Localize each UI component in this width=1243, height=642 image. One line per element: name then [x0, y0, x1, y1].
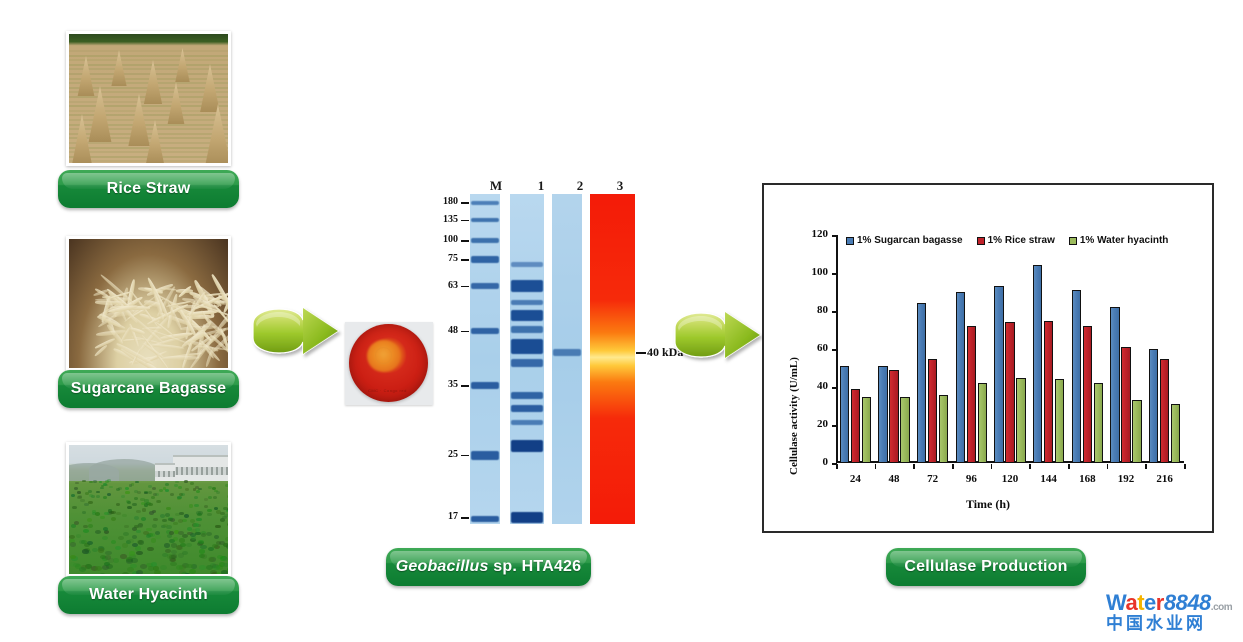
stubble-row: [66, 68, 231, 70]
hyacinth-leaf: [83, 529, 88, 533]
bar-192h----rice-straw: [1121, 347, 1131, 463]
hyacinth-leaf: [136, 510, 141, 513]
hyacinth-leaf: [79, 567, 86, 572]
chart-x-tick-mark-48: [875, 464, 877, 469]
hyacinth-leaf: [215, 525, 220, 529]
hyacinth-leaf: [118, 536, 124, 540]
stubble-row: [66, 55, 231, 57]
hyacinth-leaf: [204, 505, 209, 508]
hyacinth-leaf: [75, 482, 79, 485]
chart-x-tick-48: 48: [874, 473, 914, 485]
bar-96h----sugarcan-bagasse: [956, 292, 966, 463]
hyacinth-leaf: [227, 495, 231, 498]
water-hyacinth-image: [69, 445, 228, 574]
hyacinth-leaf: [102, 565, 109, 570]
ladder-label-180: 180: [432, 196, 458, 207]
chart-x-tick-120: 120: [990, 473, 1030, 485]
bar-168h----sugarcan-bagasse: [1072, 290, 1082, 463]
congo-red-agar-plate: CMC · Congo red: [349, 324, 428, 402]
hyacinth-leaf: [140, 498, 144, 501]
hyacinth-leaf: [88, 501, 92, 504]
chart-x-tick-24: 24: [835, 473, 875, 485]
ladder-label-63: 63: [432, 280, 458, 291]
hyacinth-leaf: [164, 543, 170, 547]
bagasse-fiber: [151, 344, 184, 351]
ladder-tick-180: [461, 202, 469, 204]
bar-24h----water-hyacinth: [862, 397, 872, 464]
hyacinth-leaf: [122, 543, 128, 547]
watermark-letter-2: t: [1137, 590, 1144, 615]
hyacinth-leaf: [146, 534, 152, 538]
hyacinth-leaf: [225, 484, 229, 487]
hyacinth-leaf: [167, 554, 173, 559]
label-organism: Geobacillus sp. HTA426: [386, 548, 591, 586]
organism-genus: Geobacillus: [396, 558, 489, 575]
hyacinth-leaf: [163, 524, 168, 528]
chart-y-tick-mark-20: [832, 425, 837, 427]
bar-48h----water-hyacinth: [900, 397, 910, 464]
gel-lane-marker: [470, 194, 500, 524]
chart-y-tick-mark-40: [832, 387, 837, 389]
hyacinth-leaf: [214, 535, 220, 539]
stubble-row: [66, 114, 231, 116]
hyacinth-leaf: [186, 564, 193, 569]
chart-y-tick-80: 80: [798, 304, 828, 316]
bar-144h----rice-straw: [1044, 321, 1054, 464]
hyacinth-leaf: [228, 513, 231, 516]
hyacinth-leaf: [152, 524, 157, 528]
hyacinth-leaf: [96, 495, 100, 498]
hyacinth-leaf: [152, 487, 156, 490]
hyacinth-leaf: [96, 491, 100, 494]
chart-x-tick-168: 168: [1067, 473, 1107, 485]
stubble-row: [66, 128, 231, 130]
hyacinth-leaf: [156, 500, 160, 503]
hyacinth-leaf: [104, 512, 109, 515]
hyacinth-leaf: [179, 512, 184, 515]
hyacinth-leaf: [208, 496, 212, 499]
chart-plot-area: [836, 235, 1184, 463]
hyacinth-leaf: [151, 496, 155, 499]
hyacinth-leaf: [128, 539, 134, 543]
chart-x-tick-mark-96: [952, 464, 954, 469]
hyacinth-leaf: [225, 537, 231, 541]
hyacinth-leaf: [193, 523, 198, 527]
hyacinth-leaf: [141, 517, 146, 521]
hyacinth-leaf: [136, 530, 141, 534]
hyacinth-leaf: [180, 543, 186, 547]
bagasse-fiber: [95, 329, 126, 336]
hyacinth-leaf: [127, 506, 132, 509]
bar-48h----rice-straw: [889, 370, 899, 463]
label-rice-straw: Rice Straw: [58, 170, 239, 208]
hyacinth-leaf: [134, 516, 139, 520]
bagasse-fiber: [123, 339, 141, 342]
chart-y-tick-20: 20: [798, 418, 828, 430]
hyacinth-leaf: [160, 565, 167, 570]
hyacinth-leaf: [184, 514, 189, 517]
hyacinth-leaf: [178, 486, 182, 489]
hyacinth-leaf: [154, 570, 161, 575]
hyacinth-leaf: [116, 503, 121, 506]
hyacinth-leaf: [176, 565, 183, 570]
chart-x-tick-mark-24: [836, 464, 838, 469]
gel-lane-2-purified-enzyme: [552, 194, 582, 524]
hyacinth-leaf: [206, 532, 212, 536]
chart-x-tick-72: 72: [913, 473, 953, 485]
hyacinth-leaf: [142, 508, 147, 511]
ladder-label-75: 75: [432, 253, 458, 264]
hyacinth-leaf: [116, 512, 121, 515]
hyacinth-leaf: [223, 563, 230, 568]
ladder-tick-63: [461, 286, 469, 288]
ladder-label-48: 48: [432, 325, 458, 336]
watermark-tld: .com: [1211, 602, 1232, 613]
hyacinth-leaf: [216, 491, 220, 494]
hyacinth-leaf: [147, 547, 153, 551]
hyacinth-leaf: [177, 496, 181, 499]
hyacinth-leaf: [228, 480, 231, 483]
hyacinth-leaf: [170, 493, 174, 496]
hyacinth-leaf: [71, 494, 75, 497]
hyacinth-leaf: [89, 481, 93, 484]
ladder-label-17: 17: [432, 511, 458, 522]
photo-sugarcane-bagasse: [66, 236, 231, 371]
hyacinth-leaf: [189, 504, 194, 507]
hyacinth-leaf: [196, 490, 200, 493]
bar-216h----sugarcan-bagasse: [1149, 349, 1159, 463]
hyacinth-leaf: [148, 491, 152, 494]
hyacinth-leaf: [182, 534, 188, 538]
hyacinth-leaf: [170, 562, 177, 567]
hyacinth-leaf: [136, 551, 142, 555]
hyacinth-leaf: [88, 524, 93, 528]
cellulase-activity-chart: 1% Sugarcan bagasse 1% Rice straw 1% Wat…: [762, 183, 1214, 533]
hyacinth-leaf: [168, 518, 173, 522]
ladder-tick-75: [461, 259, 469, 261]
gel-lane-1-crude-extract: [510, 194, 544, 524]
hyacinth-leaf: [95, 512, 100, 515]
hyacinth-leaf: [121, 495, 125, 498]
hyacinth-leaf: [227, 508, 231, 511]
hyacinth-leaf: [127, 501, 131, 504]
hyacinth-leaf: [230, 552, 231, 556]
chart-x-tick-mark-192: [1107, 464, 1109, 469]
bar-192h----sugarcan-bagasse: [1110, 307, 1120, 463]
stubble-row: [66, 64, 231, 66]
hyacinth-leaf: [116, 488, 120, 491]
hyacinth-leaf: [136, 570, 143, 575]
gel-lane-3-zymogram: [590, 194, 635, 524]
hyacinth-leaf: [76, 534, 82, 538]
bar-144h----sugarcan-bagasse: [1033, 265, 1043, 463]
gel-lane-label-3: 3: [610, 178, 630, 194]
plate-caption: CMC · Congo red: [368, 388, 407, 393]
label-organism-text: Geobacillus sp. HTA426: [396, 558, 582, 576]
ladder-tick-100: [461, 240, 469, 242]
ladder-tick-35: [461, 385, 469, 387]
hyacinth-leaf: [99, 481, 103, 484]
bar-216h----rice-straw: [1160, 359, 1170, 464]
bar-144h----water-hyacinth: [1055, 379, 1065, 463]
chart-y-tick-mark-120: [832, 235, 837, 237]
chart-x-tick-mark-120: [991, 464, 993, 469]
hyacinth-leaf: [155, 531, 161, 535]
chart-y-tick-60: 60: [798, 342, 828, 354]
hyacinth-leaf: [115, 546, 121, 550]
stubble-row: [66, 147, 231, 149]
hyacinth-leaf: [222, 516, 227, 520]
hyacinth-leaf: [107, 479, 111, 482]
bar-120h----sugarcan-bagasse: [994, 286, 1004, 463]
hyacinth-leaf: [227, 523, 231, 527]
hyacinth-leaf: [111, 517, 116, 521]
bar-120h----rice-straw: [1005, 322, 1015, 463]
hyacinth-leaf: [77, 491, 81, 494]
hyacinth-leaf: [201, 533, 207, 537]
hyacinth-leaf: [148, 503, 153, 506]
bar-24h----sugarcan-bagasse: [840, 366, 850, 463]
hyacinth-leaf: [148, 566, 155, 571]
ladder-label-25: 25: [432, 449, 458, 460]
ladder-label-100: 100: [432, 234, 458, 245]
label-water-hyacinth: Water Hyacinth: [58, 576, 239, 614]
hyacinth-leaf: [195, 528, 200, 532]
hyacinth-leaf: [123, 532, 129, 536]
hyacinth-leaf: [109, 486, 113, 489]
hyacinth-leaf: [124, 525, 129, 529]
label-rice-straw-text: Rice Straw: [107, 180, 191, 198]
hyacinth-leaf: [207, 509, 212, 512]
hyacinth-leaf: [125, 491, 129, 494]
hyacinth-leaf: [138, 540, 144, 544]
gel-lane-label-2: 2: [570, 178, 590, 194]
hyacinth-leaf: [185, 488, 189, 491]
bar-168h----rice-straw: [1083, 326, 1093, 463]
hyacinth-leaf: [182, 551, 188, 555]
stubble-row: [66, 73, 231, 75]
hyacinth-leaf: [165, 513, 170, 516]
hyacinth-leaf: [198, 540, 204, 544]
hyacinth-leaf: [201, 554, 207, 559]
hyacinth-leaf: [111, 511, 116, 514]
bar-192h----water-hyacinth: [1132, 400, 1142, 463]
hyacinth-leaf: [189, 569, 196, 574]
ladder-label-35: 35: [432, 379, 458, 390]
photo-water-hyacinth: [66, 442, 231, 577]
hyacinth-leaf: [98, 548, 104, 552]
chart-x-tick-mark-end: [1184, 464, 1186, 469]
hyacinth-leaf: [69, 535, 75, 539]
hyacinth-leaf: [230, 495, 231, 498]
hyacinth-leaf: [88, 490, 92, 493]
stubble-row: [66, 124, 231, 126]
hyacinth-leaf: [111, 540, 117, 544]
petri-dish-card: CMC · Congo red: [345, 322, 433, 405]
hyacinth-leaf: [103, 483, 107, 486]
hyacinth-leaf: [82, 511, 87, 514]
stubble-row: [66, 165, 231, 166]
chart-x-tick-96: 96: [951, 473, 991, 485]
watermark-logo: Water8848.com 中国水业网: [1106, 592, 1238, 638]
hyacinth-leaf: [82, 549, 88, 553]
hyacinth-leaf: [132, 503, 136, 506]
hyacinth-leaf: [129, 484, 133, 487]
chart-y-tick-100: 100: [798, 266, 828, 278]
rice-straw-field-image: [69, 34, 228, 163]
watermark-chinese: 中国水业网: [1106, 615, 1238, 634]
chart-x-tick-144: 144: [1029, 473, 1069, 485]
stubble-row: [66, 119, 231, 121]
label-sugarcane-bagasse-text: Sugarcane Bagasse: [71, 380, 226, 398]
hyacinth-leaf: [190, 482, 194, 485]
watermark-number: 8848: [1164, 590, 1211, 615]
hyacinth-leaf: [212, 487, 216, 490]
hyacinth-leaf: [149, 511, 154, 514]
hyacinth-leaf: [216, 510, 221, 513]
chart-bars: [836, 235, 1184, 463]
chart-x-tick-216: 216: [1145, 473, 1185, 485]
stubble-row: [66, 50, 231, 52]
hyacinth-leaf: [93, 480, 97, 483]
hyacinth-leaf: [166, 507, 171, 510]
chart-x-tick-192: 192: [1106, 473, 1146, 485]
hyacinth-leaf: [129, 551, 135, 555]
photo-rice-straw: [66, 31, 231, 166]
hyacinth-leaf: [87, 518, 92, 522]
hyacinth-leaf: [125, 487, 129, 490]
chart-y-tick-40: 40: [798, 380, 828, 392]
hyacinth-leaf: [80, 499, 84, 502]
hyacinth-leaf: [102, 536, 108, 540]
hyacinth-leaf: [134, 497, 138, 500]
hyacinth-leaf: [169, 531, 175, 535]
hyacinth-leaf: [122, 514, 127, 517]
hyacinth-leaf: [181, 493, 185, 496]
ladder-tick-135: [461, 220, 469, 222]
chart-x-axis-title: Time (h): [764, 497, 1212, 512]
hyacinth-leaf: [179, 538, 185, 542]
hyacinth-leaf: [104, 530, 110, 534]
hyacinth-leaf: [107, 493, 111, 496]
ladder-label-135: 135: [432, 214, 458, 225]
bar-168h----water-hyacinth: [1094, 383, 1104, 463]
watermark-letter-4: r: [1156, 590, 1164, 615]
graphical-abstract: Rice Straw Sugarcane Bagasse Water Hyaci…: [0, 0, 1243, 642]
hyacinth-leaf: [229, 548, 231, 552]
hyacinth-leaf: [72, 506, 77, 509]
sugarcane-bagasse-image: [69, 239, 228, 368]
hyacinth-leaf: [141, 502, 145, 505]
organism-strain: sp. HTA426: [489, 558, 582, 575]
hyacinth-leaf: [146, 528, 151, 532]
hyacinth-leaf: [100, 487, 104, 490]
hyacinth-leaf: [100, 516, 105, 520]
hyacinth-leaf: [140, 564, 147, 569]
hyacinth-leaf: [165, 483, 169, 486]
watermark-letter-3: e: [1144, 590, 1156, 615]
chart-x-tick-mark-216: [1145, 464, 1147, 469]
bar-216h----water-hyacinth: [1171, 404, 1181, 463]
hyacinth-leaf: [197, 513, 202, 516]
hyacinth-leaf: [135, 546, 141, 550]
watermark-letter-0: W: [1106, 590, 1125, 615]
watermark-brand: Water8848.com: [1106, 592, 1238, 614]
label-water-hyacinth-text: Water Hyacinth: [89, 586, 208, 604]
hyacinth-leaf: [83, 525, 88, 529]
bar-72h----water-hyacinth: [939, 395, 949, 463]
hyacinth-leaf: [199, 565, 206, 570]
chart-y-tick-mark-60: [832, 349, 837, 351]
chart-y-tick-mark-100: [832, 273, 837, 275]
watermark-letter-1: a: [1125, 590, 1137, 615]
bar-72h----rice-straw: [928, 359, 938, 464]
straw-sheaf: [75, 56, 97, 96]
hyacinth-leaf: [103, 496, 107, 499]
ladder-tick-25: [461, 455, 469, 457]
gel-lane-label-1: 1: [531, 178, 551, 194]
hyacinth-leaf: [204, 498, 208, 501]
hyacinth-leaf: [194, 496, 198, 499]
hyacinth-leaf: [221, 570, 228, 575]
hyacinth-leaf: [70, 542, 76, 546]
hyacinth-leaf: [151, 538, 157, 542]
bar-96h----water-hyacinth: [978, 383, 988, 463]
kda-tick-mark: [636, 352, 646, 354]
hyacinth-leaf: [210, 570, 217, 575]
hyacinth-leaf: [194, 504, 199, 507]
hyacinth-leaf: [95, 566, 102, 571]
chart-y-tick-120: 120: [798, 228, 828, 240]
bar-72h----sugarcan-bagasse: [917, 303, 927, 463]
sds-page-gel: M 1 2 3 180135100756348352517: [440, 178, 655, 533]
hyacinth-leaf: [153, 518, 158, 522]
label-sugarcane-bagasse: Sugarcane Bagasse: [58, 370, 239, 408]
hyacinth-leaf: [186, 543, 192, 547]
chart-y-tick-mark-80: [832, 311, 837, 313]
bacterial-colony: [375, 347, 392, 363]
hyacinth-leaf: [82, 480, 86, 483]
hyacinth-leaf: [84, 543, 90, 547]
label-cellulase-production-text: Cellulase Production: [904, 558, 1067, 576]
hyacinth-leaf: [74, 487, 78, 490]
hyacinth-leaf: [130, 564, 137, 569]
hyacinth-leaf: [173, 522, 178, 526]
hyacinth-leaf: [74, 521, 79, 525]
hyacinth-leaf: [126, 559, 133, 564]
ladder-tick-17: [461, 517, 469, 519]
bar-96h----rice-straw: [967, 326, 977, 463]
hyacinth-leaf: [95, 530, 100, 534]
label-cellulase-production: Cellulase Production: [886, 548, 1086, 586]
ladder-tick-48: [461, 331, 469, 333]
hyacinth-leaf: [196, 518, 201, 522]
bar-120h----water-hyacinth: [1016, 378, 1026, 464]
gel-lane-label-M: M: [486, 178, 506, 194]
bar-48h----sugarcan-bagasse: [878, 366, 888, 463]
hyacinth-leaf: [173, 537, 179, 541]
hyacinth-leaf: [137, 524, 142, 528]
hyacinth-leaf: [162, 519, 167, 523]
bar-24h----rice-straw: [851, 389, 861, 463]
chart-x-tick-mark-72: [913, 464, 915, 469]
hyacinth-leaf: [229, 491, 231, 494]
chart-x-tick-mark-168: [1068, 464, 1070, 469]
hyacinth-leaf: [70, 562, 77, 567]
hyacinth-leaf: [213, 496, 217, 499]
hyacinth-leaf: [155, 535, 161, 539]
hyacinth-leaf: [207, 513, 212, 516]
